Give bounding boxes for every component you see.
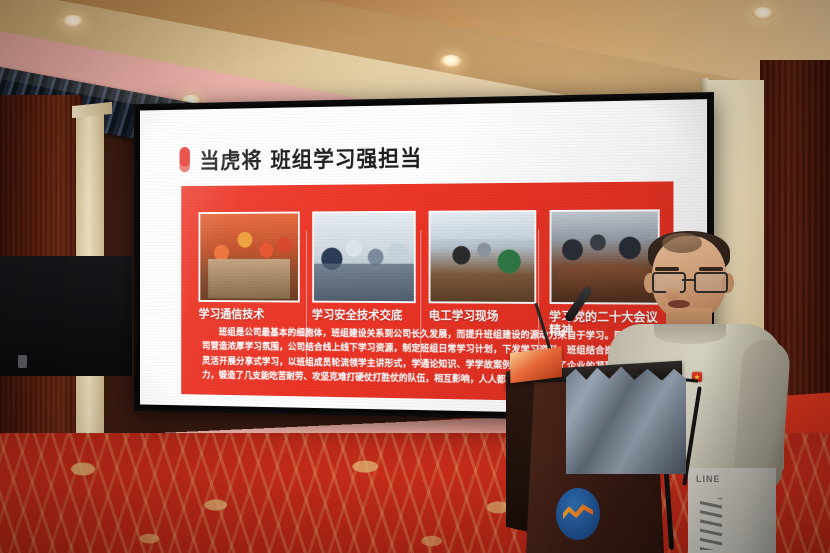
photo-caption-1: 学习通信技术 <box>199 308 300 322</box>
photo-safety-briefing-image <box>312 211 416 303</box>
red-booklet[interactable] <box>510 347 562 383</box>
trouser-graphic <box>700 498 722 550</box>
presenter-eyebrow-right <box>699 267 723 271</box>
downlight-3 <box>440 55 462 68</box>
podium-metal-faceplate <box>566 362 686 474</box>
sweatshirt-collar <box>654 324 726 344</box>
photo-item-3: 电工学习现场 <box>429 210 536 324</box>
glasses-bridge <box>682 279 696 281</box>
downlight-4 <box>752 7 774 20</box>
photo-caption-2: 学习安全技术交底 <box>312 308 416 323</box>
presenter-eyebrow-left <box>655 267 679 271</box>
slide-title: 当虎将 班组学习强担当 <box>180 140 423 175</box>
photo-item-2: 学习安全技术交底 <box>312 211 416 323</box>
eyeglasses <box>650 272 728 290</box>
logo-wave-mark <box>563 501 593 527</box>
loudspeaker-cabinet <box>0 256 132 376</box>
slide-title-text: 当虎将 班组学习强担当 <box>199 140 422 175</box>
trouser-print-text: LINE <box>696 474 721 484</box>
downlight-1 <box>62 15 84 28</box>
photo-electrician-training-image <box>429 210 536 304</box>
lens-right <box>694 272 728 293</box>
conference-photo-scene: 当虎将 班组学习强担当 学习通信技术 学习安全技术交底 <box>0 0 830 553</box>
presenter-hairline <box>662 233 702 253</box>
title-bullet-icon <box>180 146 190 171</box>
speaking-podium <box>512 366 680 553</box>
photo-caption-3: 电工学习现场 <box>429 309 536 324</box>
presenter-mouth <box>668 300 690 308</box>
presenter-nose <box>666 286 680 300</box>
photo-communication-tech-image <box>199 212 300 303</box>
company-logo-icon <box>556 488 600 540</box>
photo-item-1: 学习通信技术 <box>199 212 300 322</box>
photo-gallery: 学习通信技术 学习安全技术交底 电工学习现场 学习党的二十大会议精神 <box>199 209 660 336</box>
